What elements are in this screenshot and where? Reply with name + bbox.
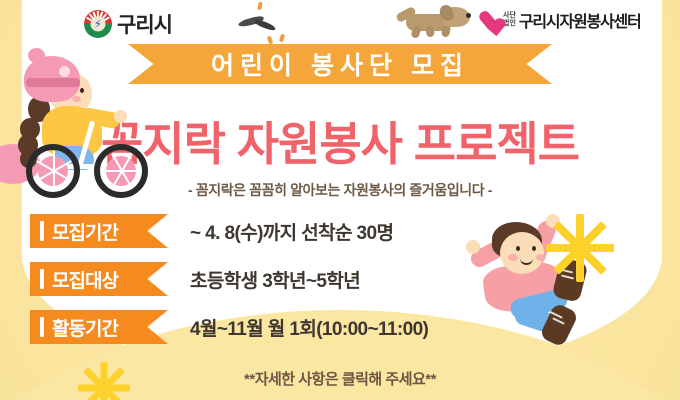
info-tag-activity-period: 활동기간 — [30, 310, 168, 344]
volunteer-center-logo: 사단 법인 구리시자원봉사센터 — [478, 8, 641, 32]
guri-city-logo: ⚡ 구리시 — [84, 9, 224, 39]
info-row: 모집기간 ~ 4. 8(수)까지 선착순 30명 — [30, 214, 500, 248]
volunteer-center-name: 구리시자원봉사센터 — [519, 8, 641, 32]
info-row: 활동기간 4월~11월 월 1회(10:00~11:00) — [30, 310, 500, 344]
info-label: 활동기간 — [52, 314, 118, 341]
tag-bar-icon — [40, 269, 44, 289]
lightning-bolt-icon: ⚡ — [94, 18, 102, 30]
info-value: 4월~11월 월 1회(10:00~11:00) — [190, 314, 428, 341]
info-row: 모집대상 초등학생 3학년~5학년 — [30, 262, 500, 296]
heart-icon — [478, 10, 500, 31]
info-value: 초등학생 3학년~5학년 — [190, 266, 360, 293]
bicycle-wheel — [94, 144, 148, 198]
ribbon-title: 어린이 봉사단 모집 — [128, 44, 552, 84]
running-dog-icon — [392, 4, 482, 38]
tag-bar-icon — [40, 221, 44, 241]
guri-city-label: 구리시 — [117, 9, 172, 39]
info-label: 모집대상 — [52, 266, 118, 293]
info-tag-recruit-period: 모집기간 — [30, 214, 168, 248]
info-label: 모집기간 — [52, 218, 118, 245]
guri-city-emblem-icon: ⚡ — [84, 10, 112, 38]
ribbon-banner: 어린이 봉사단 모집 — [128, 44, 552, 84]
cta-text[interactable]: **자세한 사항은 클릭해 주세요** — [0, 368, 680, 389]
flying-bird-icon — [238, 14, 280, 34]
bicycle-wheel — [26, 144, 80, 198]
poster-root: ⚡ 구리시 사단 법인 구리시자원봉사센터 어린이 봉사단 모집 꼼지락 자원봉… — [0, 0, 680, 400]
tag-bar-icon — [40, 317, 44, 337]
corp-line-1: 사단 — [503, 12, 516, 20]
info-tag-target: 모집대상 — [30, 262, 168, 296]
girl-riding-bicycle-illustration — [2, 48, 132, 203]
info-list: 모집기간 ~ 4. 8(수)까지 선착순 30명 모집대상 초등학생 3학년~5… — [30, 214, 500, 358]
info-value: ~ 4. 8(수)까지 선착순 30명 — [190, 218, 393, 245]
boy-cheering-illustration — [470, 218, 640, 358]
